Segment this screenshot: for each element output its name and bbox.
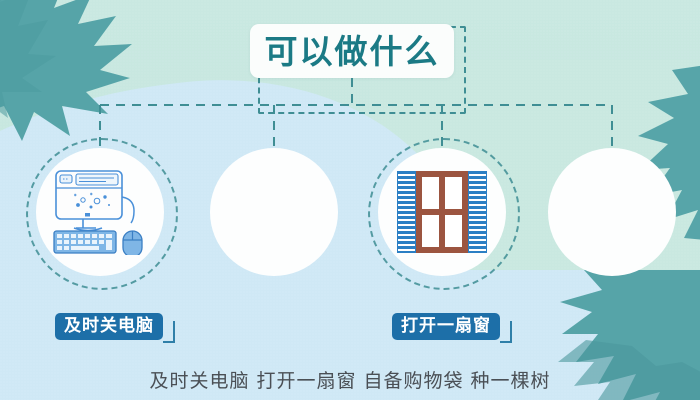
badge-window[interactable]: 打开一扇窗 <box>392 313 500 340</box>
node-computer[interactable] <box>36 148 164 276</box>
title-box: 可以做什么 <box>250 24 454 78</box>
badge-computer[interactable]: 及时关电脑 <box>55 313 163 340</box>
page-title: 可以做什么 <box>265 35 440 68</box>
slide-canvas: 可以做什么 <box>0 0 700 400</box>
badge-bracket-icon <box>500 321 512 343</box>
badge-label: 及时关电脑 <box>64 318 154 335</box>
node-circle <box>548 148 676 276</box>
computer-icon <box>36 148 164 276</box>
palm-leaf-icon <box>0 0 164 141</box>
window-icon <box>378 148 506 276</box>
node-circle <box>210 148 338 276</box>
badge-label: 打开一扇窗 <box>401 318 491 335</box>
node-window[interactable] <box>378 148 506 276</box>
node-empty-4[interactable] <box>548 148 676 276</box>
node-empty-2[interactable] <box>210 148 338 276</box>
badge-bracket-icon <box>163 321 175 343</box>
caption-text: 及时关电脑 打开一扇窗 自备购物袋 种一棵树 <box>0 366 700 393</box>
